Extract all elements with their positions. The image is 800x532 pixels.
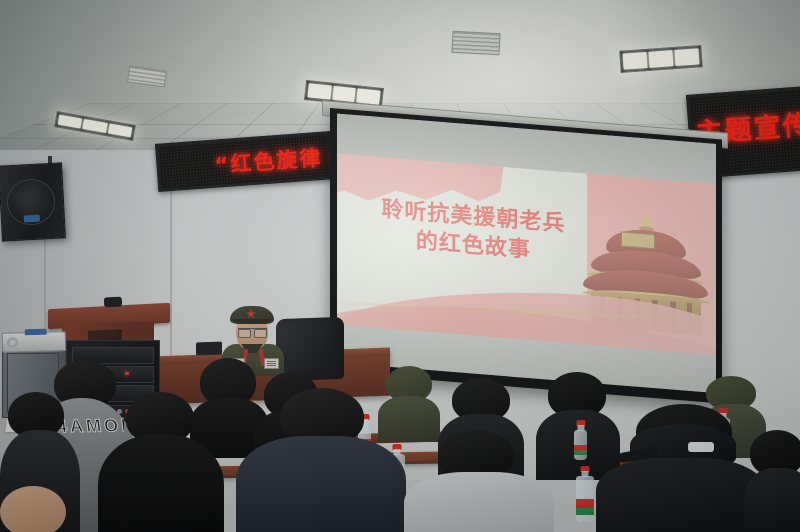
projector-top-cover — [25, 329, 47, 336]
audience-jacket — [744, 468, 800, 532]
presentation-slide: 聆听抗美援朝老兵 的红色故事 — [337, 154, 716, 355]
bottle-label — [576, 499, 594, 515]
podium-microphone — [104, 297, 122, 308]
water-bottle — [574, 420, 587, 460]
conference-room-photo: “红色旋律 薪火相 主题宣传 — [0, 0, 800, 532]
wall-seam — [170, 160, 172, 380]
projector-unit — [2, 331, 67, 353]
speaker-brand-badge — [24, 215, 40, 223]
audience-jacket — [596, 458, 766, 532]
screen-surface: 聆听抗美援朝老兵 的红色故事 — [337, 114, 716, 393]
bottle-body — [574, 430, 587, 460]
projector-lens-icon — [7, 337, 18, 347]
navy-blazer — [236, 436, 406, 532]
audience-hand — [0, 486, 66, 532]
glasses-icon — [238, 328, 267, 336]
audience-member — [98, 392, 224, 532]
desk-microphone — [196, 342, 222, 356]
wall-speaker — [0, 162, 66, 241]
air-vent-grille — [451, 31, 500, 55]
cap-label — [688, 442, 714, 452]
audience-member — [0, 486, 70, 532]
audience-hair-long — [98, 434, 224, 532]
audience-member — [404, 430, 554, 532]
audience-member — [744, 430, 800, 532]
temple-plaque — [621, 232, 656, 249]
audience-member — [236, 388, 406, 532]
water-bottle — [576, 466, 594, 522]
bottle-label — [574, 445, 587, 455]
slide-title: 聆听抗美援朝老兵 的红色故事 — [360, 193, 587, 269]
audience-member-cap — [596, 404, 766, 532]
bottle-body — [576, 476, 594, 522]
light-grey-hoodie — [404, 472, 554, 532]
